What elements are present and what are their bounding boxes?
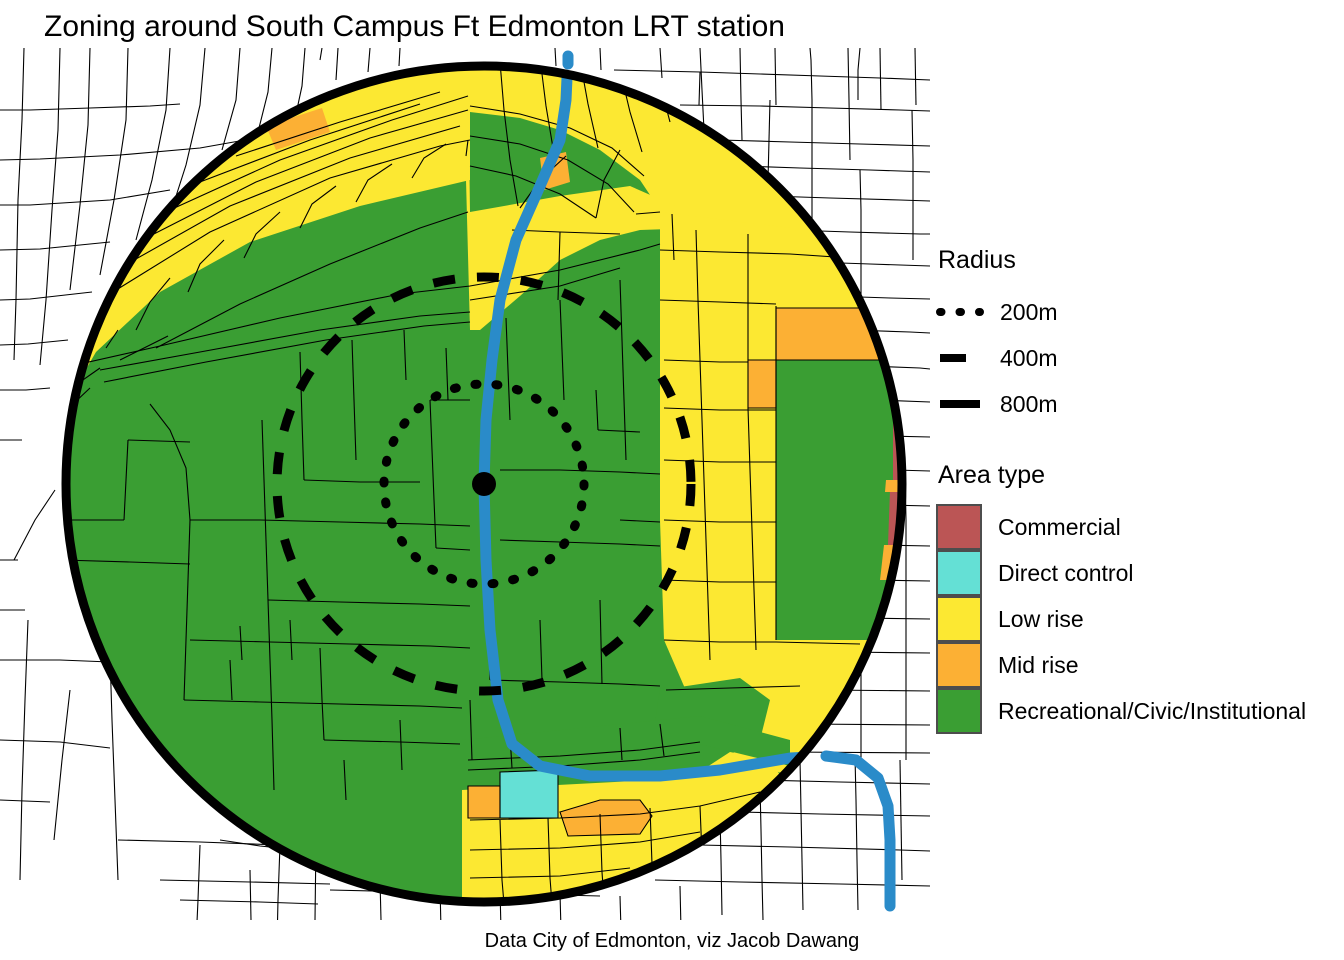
- legend-title-radius: Radius: [938, 246, 1336, 275]
- dotted-line-key: [936, 289, 984, 335]
- legend-item-800m[interactable]: 800m: [936, 381, 1336, 427]
- zone-midrise-east-strip: [885, 480, 899, 492]
- legend-item-recreational[interactable]: Recreational/Civic/Institutional: [936, 688, 1336, 734]
- legend-label-200m: 200m: [1000, 299, 1058, 326]
- legend-label-400m: 400m: [1000, 345, 1058, 372]
- legend-item-400m[interactable]: 400m: [936, 335, 1336, 381]
- legend-title-area-type: Area type: [938, 461, 1336, 490]
- legend-label-recreational: Recreational/Civic/Institutional: [998, 698, 1306, 725]
- legend-label-commercial: Commercial: [998, 514, 1121, 541]
- swatch-commercial: [936, 504, 982, 550]
- swatch-mid-rise: [936, 642, 982, 688]
- legend-group-radius: 200m 400m 800m: [936, 289, 1336, 427]
- legend-item-direct-control[interactable]: Direct control: [936, 550, 1336, 596]
- legend-item-low-rise[interactable]: Low rise: [936, 596, 1336, 642]
- solid-line-key: [936, 381, 984, 427]
- zone-direct-control: [500, 770, 558, 818]
- legend-item-mid-rise[interactable]: Mid rise: [936, 642, 1336, 688]
- legend-group-area-type: Commercial Direct control Low rise Mid r…: [936, 504, 1336, 734]
- legend-panel: Radius 200m 400m: [936, 246, 1336, 734]
- swatch-recreational: [936, 688, 982, 734]
- swatch-direct-control: [936, 550, 982, 596]
- zone-midrise-s1: [468, 786, 500, 818]
- swatch-low-rise: [936, 596, 982, 642]
- figure-root: Zoning around South Campus Ft Edmonton L…: [0, 0, 1344, 960]
- source-caption: Data City of Edmonton, viz Jacob Dawang: [0, 930, 1344, 953]
- legend-label-direct-control: Direct control: [998, 560, 1133, 587]
- legend-label-800m: 800m: [1000, 391, 1058, 418]
- station-center-point[interactable]: [472, 472, 496, 496]
- legend-item-commercial[interactable]: Commercial: [936, 504, 1336, 550]
- legend-item-200m[interactable]: 200m: [936, 289, 1336, 335]
- legend-label-mid-rise: Mid rise: [998, 652, 1079, 679]
- dashed-line-key: [936, 335, 984, 381]
- legend-label-low-rise: Low rise: [998, 606, 1084, 633]
- zone-midrise-ne2: [748, 360, 776, 408]
